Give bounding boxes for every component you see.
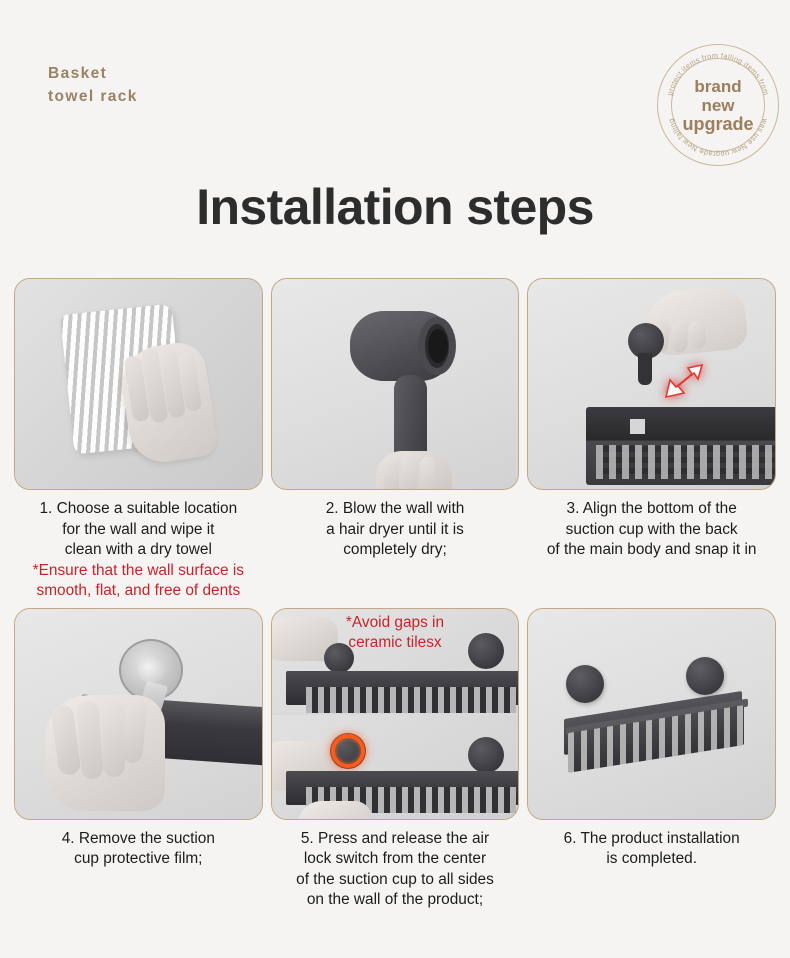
step-item-5: *Avoid gaps in ceramic tilesx 5. Press a… — [271, 608, 520, 911]
step-overlay-warning-5: *Avoid gaps in ceramic tilesx — [272, 613, 519, 654]
step-caption-3: 3. Align the bottom of the suction cup w… — [545, 499, 759, 561]
scene-align-suction-cup — [528, 279, 775, 489]
hand-illustration — [45, 695, 165, 811]
scene-finished-product — [528, 609, 775, 819]
step-warning-1: *Ensure that the wall surface is smooth,… — [32, 561, 245, 602]
step-photo-3 — [527, 278, 776, 490]
step-caption-4: 4. Remove the suction cup protective fil… — [60, 829, 217, 870]
scene-press-bottom — [272, 715, 519, 819]
hand-illustration-second — [298, 801, 372, 819]
hair-dryer-nozzle — [428, 329, 448, 363]
page-title: Installation steps — [0, 178, 790, 236]
hand-illustration — [376, 451, 452, 490]
scene-remove-film — [15, 609, 262, 819]
step-item-3: 3. Align the bottom of the suction cup w… — [527, 278, 776, 602]
rack-mesh-surface — [306, 687, 517, 713]
rack-mesh-surface — [596, 445, 776, 479]
rack-shelf — [286, 771, 519, 805]
step-item-2: 2. Blow the wall with a hair dryer until… — [271, 278, 520, 602]
red-arrow-icon — [664, 363, 704, 401]
brand-new-upgrade-badge: protect items from falling items from wa… — [657, 44, 779, 166]
step-caption-6: 6. The product installation is completed… — [562, 829, 742, 870]
step-photo-5: *Avoid gaps in ceramic tilesx — [271, 608, 520, 820]
step-photo-4 — [14, 608, 263, 820]
rack-shelf — [286, 671, 519, 705]
badge-word-upgrade: upgrade — [682, 115, 753, 134]
step-item-6: 6. The product installation is completed… — [527, 608, 776, 911]
step-photo-6 — [527, 608, 776, 820]
product-suction-cup-right — [686, 657, 724, 695]
step-caption-5: 5. Press and release the air lock switch… — [294, 829, 496, 911]
badge-word-brand: brand — [694, 77, 741, 96]
step-photo-2 — [271, 278, 520, 490]
badge-word-new: new — [701, 96, 734, 115]
product-suction-cup-left — [566, 665, 604, 703]
step-caption-1: 1. Choose a suitable location for the wa… — [38, 499, 240, 561]
rack-main-body — [586, 407, 776, 485]
suction-cup-right — [468, 737, 504, 773]
scene-wipe-wall — [15, 279, 262, 489]
installation-steps-page: Basket towel rack protect items from fal… — [0, 0, 790, 958]
brand-label-line1: Basket — [48, 62, 138, 85]
badge-core-text: brand new upgrade — [675, 62, 761, 148]
step-item-1: 1. Choose a suitable location for the wa… — [14, 278, 263, 602]
scene-hair-dryer — [272, 279, 519, 489]
step-item-4: 4. Remove the suction cup protective fil… — [14, 608, 263, 911]
rack-chip — [630, 419, 645, 434]
step-caption-2: 2. Blow the wall with a hair dryer until… — [324, 499, 467, 561]
suction-cup-center — [137, 657, 165, 683]
air-lock-glow-indicator — [331, 734, 365, 768]
steps-grid: 1. Choose a suitable location for the wa… — [14, 278, 776, 911]
brand-label: Basket towel rack — [48, 62, 138, 108]
brand-label-line2: towel rack — [48, 85, 138, 108]
suction-cup-stem — [638, 353, 652, 385]
step-photo-1 — [14, 278, 263, 490]
